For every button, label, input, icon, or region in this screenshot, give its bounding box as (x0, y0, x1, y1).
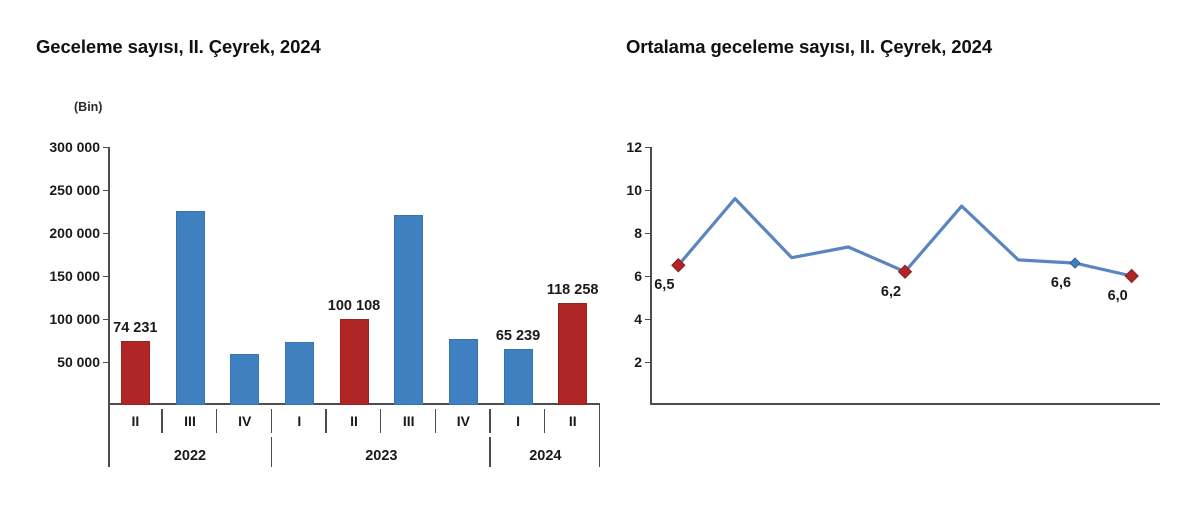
y-tick-label: 6 (634, 268, 642, 284)
bar (558, 303, 587, 405)
bar (449, 339, 478, 405)
bar-chart-title: Geceleme sayısı, II. Çeyrek, 2024 (36, 36, 321, 58)
quarter-tick-label: III (381, 405, 436, 437)
bar (176, 211, 205, 405)
y-tick-label: 12 (626, 139, 642, 155)
bar (121, 341, 150, 405)
y-tick-label: 100 000 (49, 311, 100, 327)
bar-value-label: 74 231 (113, 320, 157, 336)
y-tick-label: 10 (626, 182, 642, 198)
quarter-tick-label: IV (217, 405, 272, 437)
y-tick-label: 8 (634, 225, 642, 241)
y-tick-label: 2 (634, 354, 642, 370)
line-value-label: 6,0 (1108, 288, 1128, 304)
line-value-label: 6,6 (1051, 275, 1071, 291)
y-tick-label: 150 000 (49, 268, 100, 284)
y-tick-label: 300 000 (49, 139, 100, 155)
bar-chart-plot-area: 300 000250 000200 000150 000100 00050 00… (108, 147, 600, 405)
year-tick-label: 2022 (108, 437, 272, 467)
quarter-tick-label: III (163, 405, 218, 437)
quarter-tick-label: IV (436, 405, 491, 437)
bar-value-label: 118 258 (547, 282, 599, 298)
y-tick-label: 4 (634, 311, 642, 327)
y-tick-label: 250 000 (49, 182, 100, 198)
bar (340, 319, 369, 405)
y-tick-label: 50 000 (57, 354, 100, 370)
quarter-tick-label: I (272, 405, 327, 437)
bar (504, 349, 533, 405)
line-series (650, 147, 1160, 405)
line-chart-title: Ortalama geceleme sayısı, II. Çeyrek, 20… (626, 36, 992, 58)
line-value-label: 6,5 (654, 277, 674, 293)
line-value-label: 6,2 (881, 284, 901, 300)
quarter-tick-label: II (108, 405, 163, 437)
bar-value-label: 65 239 (496, 328, 540, 344)
line-path (678, 199, 1131, 276)
line-chart-panel: Ortalama geceleme sayısı, II. Çeyrek, 20… (600, 0, 1200, 510)
bar (285, 342, 314, 405)
figure-container: Geceleme sayısı, II. Çeyrek, 2024 (Bin) … (0, 0, 1200, 510)
line-marker (1070, 258, 1080, 268)
bar (230, 354, 259, 405)
line-chart-plot-area: 12108642 6,56,26,66,0 (650, 147, 1160, 405)
bar-value-label: 100 108 (328, 298, 380, 314)
quarter-row: IIIIIIVIIIIIIIVIII (108, 405, 600, 437)
bar-chart-category-axis: IIIIIIVIIIIIIIVIII 202220232024 (108, 405, 600, 467)
year-row: 202220232024 (108, 437, 600, 467)
quarter-tick-label: II (545, 405, 600, 437)
bar (394, 215, 423, 405)
y-tick-label: 200 000 (49, 225, 100, 241)
quarter-tick-label: I (491, 405, 546, 437)
bar-chart-panel: Geceleme sayısı, II. Çeyrek, 2024 (Bin) … (0, 0, 600, 510)
line-marker (1125, 270, 1138, 283)
bar-series: 74 231100 10865 239118 258 (108, 147, 600, 405)
year-tick-label: 2024 (491, 437, 600, 467)
quarter-tick-label: II (327, 405, 382, 437)
bar-chart-unit-label: (Bin) (74, 100, 102, 114)
year-tick-label: 2023 (272, 437, 491, 467)
